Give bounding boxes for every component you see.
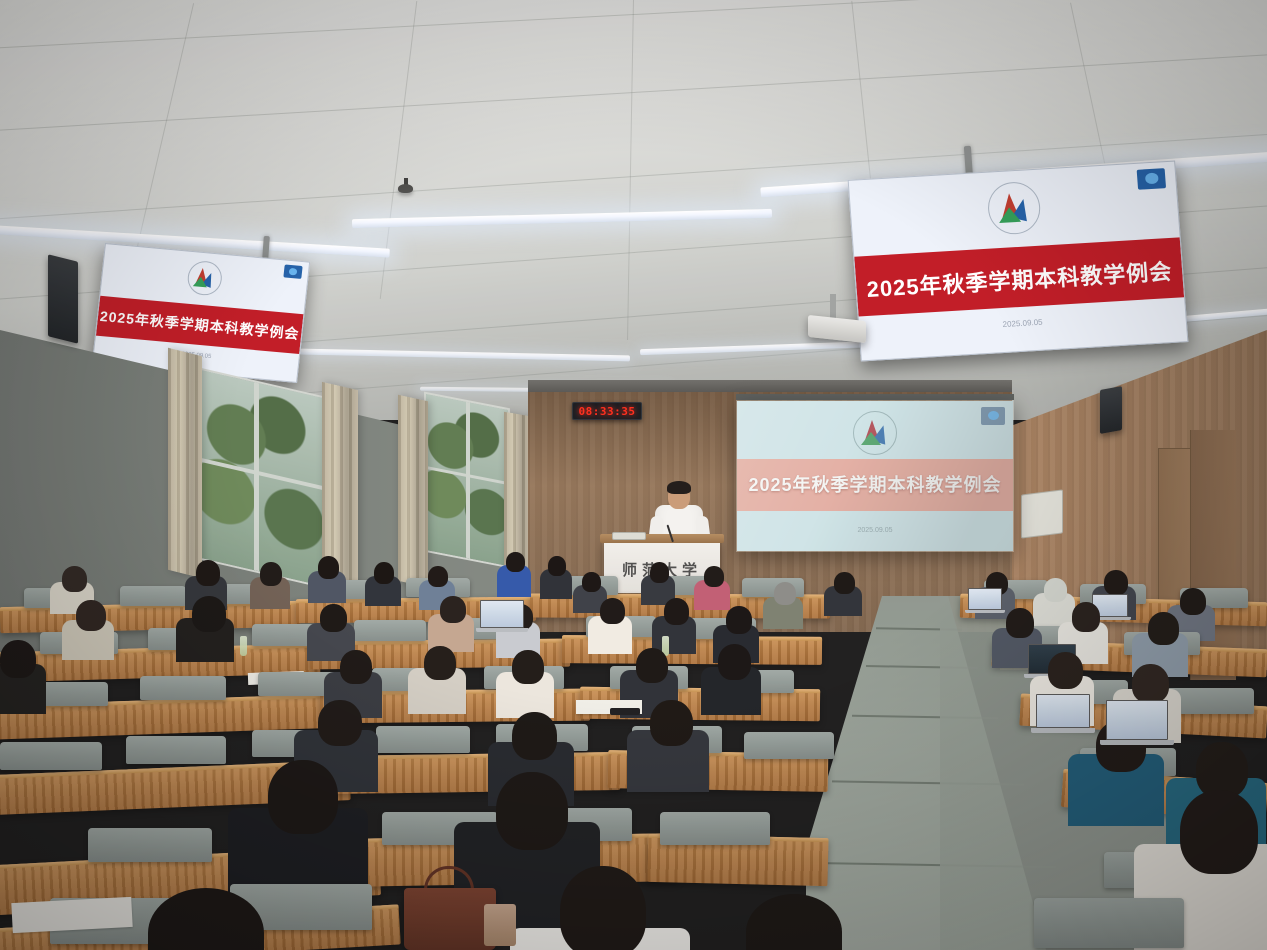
- seat-back: [376, 726, 470, 753]
- speaker-hair: [667, 481, 691, 494]
- water-bottle: [240, 636, 247, 656]
- seat-back: [744, 732, 834, 759]
- leather-handbag: [404, 888, 496, 950]
- seat-back: [126, 736, 226, 764]
- handbag-side: [484, 904, 516, 946]
- seat-back: [88, 828, 212, 862]
- clock-time: 08:33:35: [579, 405, 636, 418]
- seat-back: [1034, 898, 1184, 948]
- window: [196, 367, 328, 589]
- seat-back: [120, 586, 186, 606]
- mobile-phone[interactable]: [610, 708, 640, 715]
- monitor-status-badge-icon: [283, 264, 302, 279]
- seat-back: [660, 812, 770, 845]
- center-projection-screen: 2025年秋季学期本科教学例会 2025.09.05: [736, 400, 1014, 552]
- window-curtain: [398, 395, 428, 587]
- university-logo-icon: [853, 411, 897, 455]
- right-hanging-monitor: 2025年秋季学期本科教学例会 2025.09.05: [848, 161, 1189, 362]
- podium-control-panel[interactable]: [612, 532, 646, 540]
- wall-loudspeaker: [1100, 386, 1122, 434]
- wall-control-panel[interactable]: [1021, 489, 1063, 538]
- seat-back: [0, 742, 102, 770]
- window-curtain: [168, 348, 202, 578]
- projector-mount: [830, 294, 836, 320]
- projection-slide-title: 2025年秋季学期本科教学例会: [737, 471, 1013, 497]
- university-logo-icon: [186, 260, 224, 297]
- front-wall-trim: [528, 380, 1012, 392]
- projection-slide-date: 2025.09.05: [737, 527, 1013, 534]
- screen-status-badge-icon: [981, 407, 1005, 425]
- lecture-hall-photo: 2025年秋季学期本科教学例会 2025.09.05 2025年秋季学期本科教学…: [0, 0, 1267, 950]
- seat-back: [354, 620, 426, 641]
- led-wall-clock: 08:33:35: [572, 402, 642, 420]
- window: [424, 392, 510, 569]
- wall-loudspeaker: [48, 254, 78, 343]
- smoke-detector-icon: [398, 184, 413, 193]
- paper-sheet: [11, 897, 132, 933]
- seat-back: [140, 676, 226, 700]
- monitor-status-badge-icon: [1137, 168, 1166, 190]
- university-logo-icon: [986, 181, 1042, 236]
